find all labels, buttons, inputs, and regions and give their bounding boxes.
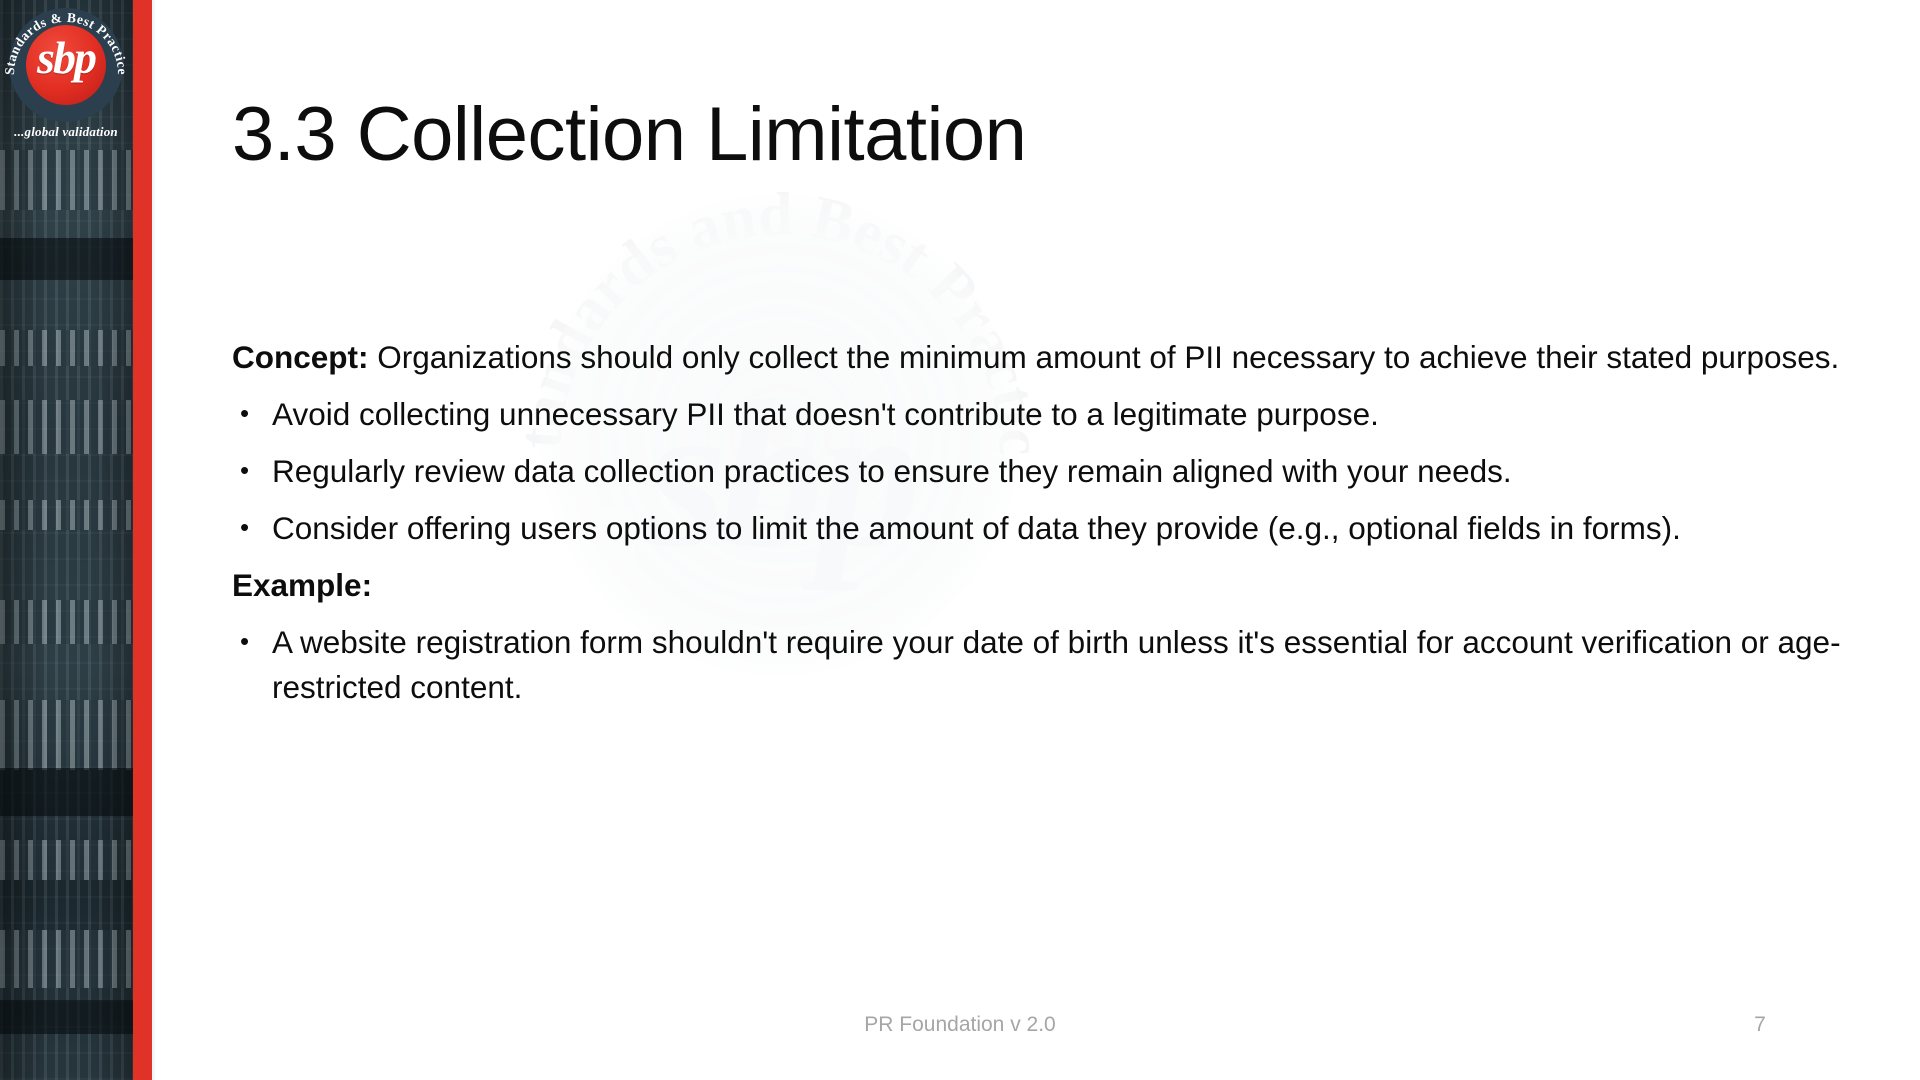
example-heading: Example:	[232, 563, 1857, 608]
list-item: Avoid collecting unnecessary PII that do…	[232, 392, 1857, 437]
footer-label: PR Foundation v 2.0	[0, 1013, 1920, 1037]
primary-bullet-list: Avoid collecting unnecessary PII that do…	[232, 392, 1857, 551]
slide-title: 3.3 Collection Limitation	[232, 92, 1026, 178]
concept-text: Organizations should only collect the mi…	[369, 339, 1840, 375]
logo-wordmark: sbp	[26, 30, 106, 86]
concept-label: Concept:	[232, 339, 369, 375]
stripe-edge	[152, 0, 155, 1080]
sbp-logo: sbp Standards & Best Practice ...global …	[4, 6, 128, 156]
page-number: 7	[1700, 1013, 1820, 1037]
list-item: Regularly review data collection practic…	[232, 449, 1857, 494]
slide-content: 3.3 Collection Limitation Concept: Organ…	[232, 0, 1832, 1080]
logo-tagline: ...global validation	[4, 124, 128, 140]
presentation-slide: sbp Standards & Best Practice ...global …	[0, 0, 1920, 1080]
list-item: Consider offering users options to limit…	[232, 506, 1857, 551]
vignette-overlay	[0, 0, 133, 1080]
list-item: A website registration form shouldn't re…	[232, 620, 1857, 710]
example-bullet-list: A website registration form shouldn't re…	[232, 620, 1857, 710]
slide-body: Concept: Organizations should only colle…	[232, 335, 1857, 722]
accent-stripe	[133, 0, 152, 1080]
concept-paragraph: Concept: Organizations should only colle…	[232, 335, 1857, 380]
sidebar-decorative-image	[0, 0, 133, 1080]
